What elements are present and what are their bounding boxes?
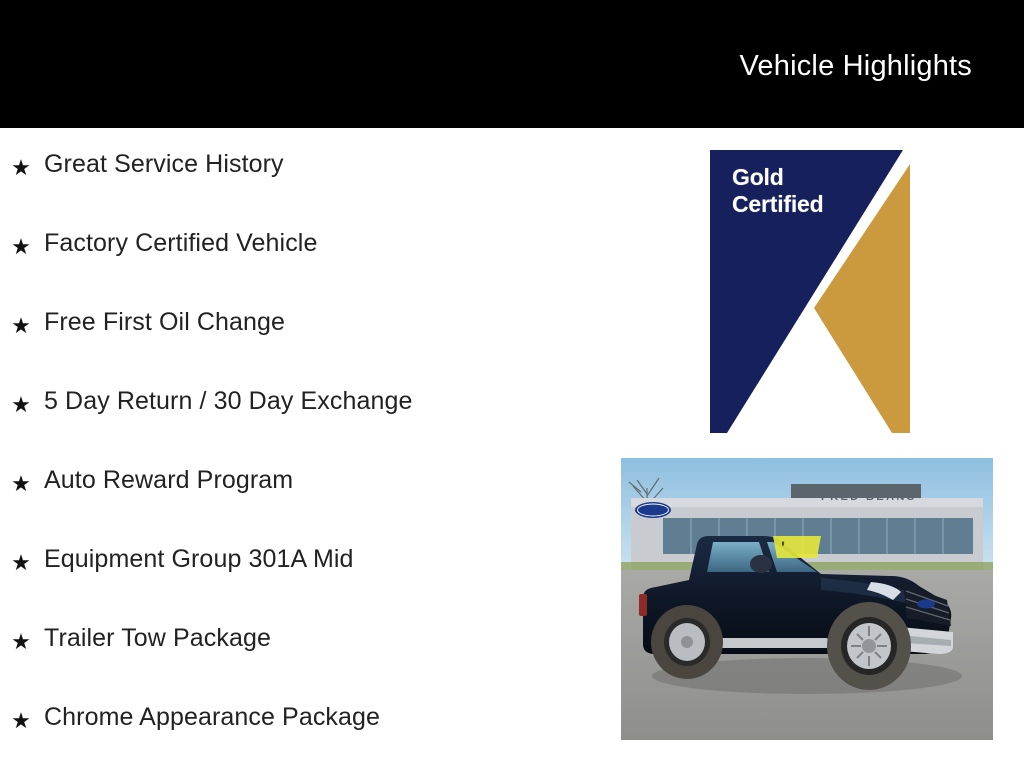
star-icon: ★: [9, 709, 33, 733]
vehicle-highlights-page: Vehicle Highlights ★ Great Service Histo…: [0, 0, 1024, 768]
list-item: ★ Factory Certified Vehicle: [0, 227, 600, 306]
star-icon: ★: [9, 156, 33, 180]
vehicle-highlights-list: ★ Great Service History ★ Factory Certif…: [0, 148, 600, 768]
list-item: ★ Equipment Group 301A Mid: [0, 543, 600, 622]
gold-certified-badge: Gold Certified: [710, 150, 920, 433]
star-icon: ★: [9, 393, 33, 417]
list-item: ★ Free First Oil Change: [0, 306, 600, 385]
list-item-label: Equipment Group 301A Mid: [44, 543, 600, 575]
gold-certified-badge-text: Gold Certified: [732, 164, 824, 218]
list-item: ★ 5 Day Return / 30 Day Exchange: [0, 385, 600, 464]
badge-line-2: Certified: [732, 191, 824, 218]
vehicle-photo-graphic: ': [621, 458, 993, 740]
list-item: ★ Trailer Tow Package: [0, 622, 600, 701]
list-item-label: Great Service History: [44, 148, 600, 180]
star-icon: ★: [9, 551, 33, 575]
header-bar: Vehicle Highlights: [0, 0, 1024, 128]
star-icon: ★: [9, 314, 33, 338]
list-item-label: Trailer Tow Package: [44, 622, 600, 654]
page-title: Vehicle Highlights: [739, 49, 972, 83]
list-item-label: Chrome Appearance Package: [44, 701, 600, 733]
svg-text:': ': [781, 538, 785, 557]
list-item-label: Free First Oil Change: [44, 306, 600, 338]
star-icon: ★: [9, 472, 33, 496]
star-icon: ★: [9, 235, 33, 259]
dealership-sign-text: FRED BEANS: [821, 491, 917, 503]
list-item: ★ Auto Reward Program: [0, 464, 600, 543]
vehicle-photo: ': [621, 458, 993, 740]
list-item-label: Factory Certified Vehicle: [44, 227, 600, 259]
list-item: ★ Great Service History: [0, 148, 600, 227]
list-item-label: 5 Day Return / 30 Day Exchange: [44, 385, 600, 417]
list-item: ★ Chrome Appearance Package: [0, 701, 600, 768]
star-icon: ★: [9, 630, 33, 654]
badge-line-1: Gold: [732, 164, 824, 191]
list-item-label: Auto Reward Program: [44, 464, 600, 496]
